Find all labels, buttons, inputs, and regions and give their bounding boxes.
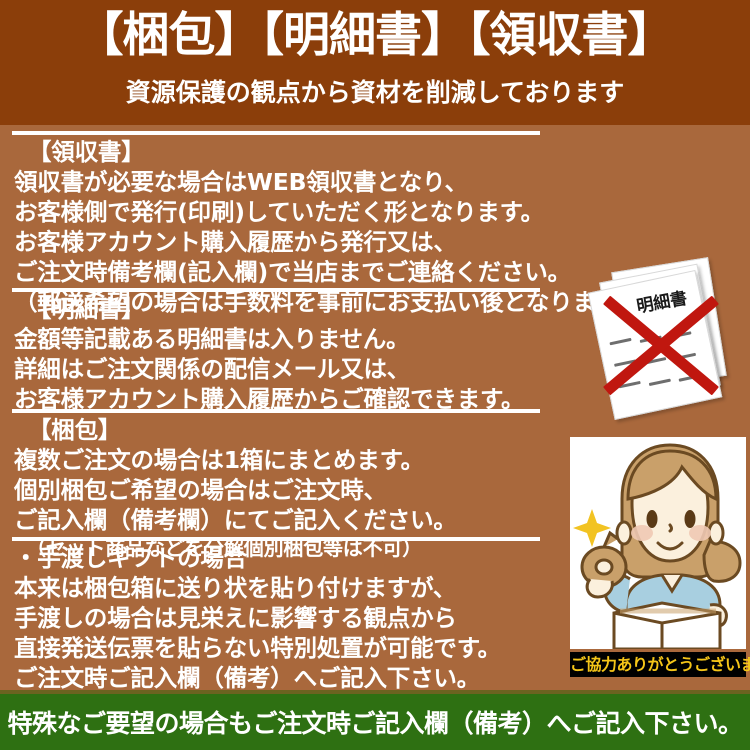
receipt-line-4: ご注文時備考欄(記入欄)で当店までご連絡ください。: [14, 257, 619, 287]
character-caption: ご協力ありがとうございます!: [570, 652, 746, 677]
section-heading-gift: ・手渡しギフトの場合: [14, 543, 501, 573]
gift-line-3: 直接発送伝票を貼らない特別処置が可能です。: [14, 633, 501, 663]
section-divider-statement: [12, 288, 540, 292]
statement-line-2: 詳細はご注文関係の配信メール又は、: [14, 354, 524, 384]
receipt-line-1: 領収書が必要な場合はWEB領収書となり、: [14, 167, 619, 197]
packaging-line-2: 個別梱包ご希望の場合はご注文時、: [14, 475, 457, 505]
packaging-line-1: 複数ご注文の場合は1箱にまとめます。: [14, 445, 457, 475]
section-statement: 【明細書】 金額等記載ある明細書は入りません。 詳細はご注文関係の配信メール又は…: [14, 294, 524, 414]
receipt-line-3: お客様アカウント購入履歴から発行又は、: [14, 227, 619, 257]
section-heading-statement: 【明細書】: [14, 294, 524, 324]
statement-line-1: 金額等記載ある明細書は入りません。: [14, 324, 524, 354]
section-heading-receipt: 【領収書】: [14, 137, 619, 167]
gift-line-1: 本来は梱包箱に送り状を貼り付けますが、: [14, 573, 501, 603]
banner-header: 【梱包】【明細書】【領収書】 資源保護の観点から資材を削減しております: [0, 0, 750, 125]
character-illustration: [570, 437, 746, 649]
packaging-line-3: ご記入欄（備考欄）にてご記入ください。: [14, 505, 457, 535]
red-cross-icon: [594, 276, 726, 408]
banner-footer: 特殊なご要望の場合もご注文時ご記入欄（備考）へご記入下さい。: [0, 690, 750, 750]
footer-text: 特殊なご要望の場合もご注文時ご記入欄（備考）へご記入下さい。: [0, 702, 750, 746]
packing-woman-svg: [570, 437, 746, 649]
section-heading-packaging: 【梱包】: [14, 415, 457, 445]
gift-line-2: 手渡しの場合は見栄えに影響する観点から: [14, 603, 501, 633]
receipt-line-2: お客様側で発行(印刷)していただく形となります。: [14, 197, 619, 227]
header-subtitle: 資源保護の観点から資材を削減しております: [0, 76, 750, 110]
section-divider-gift: [12, 537, 540, 541]
statement-document-illustration: 明細書: [592, 262, 742, 417]
page-title: 【梱包】【明細書】【領収書】: [0, 5, 750, 67]
section-gift: ・手渡しギフトの場合 本来は梱包箱に送り状を貼り付けますが、 手渡しの場合は見栄…: [14, 543, 501, 693]
section-divider-receipt: [12, 131, 540, 135]
gift-line-4: ご注文時ご記入欄（備考）へご記入下さい。: [14, 663, 501, 693]
section-divider-packaging: [12, 409, 540, 413]
packaging-notice-banner: 【梱包】【明細書】【領収書】 資源保護の観点から資材を削減しております 【領収書…: [0, 0, 750, 750]
